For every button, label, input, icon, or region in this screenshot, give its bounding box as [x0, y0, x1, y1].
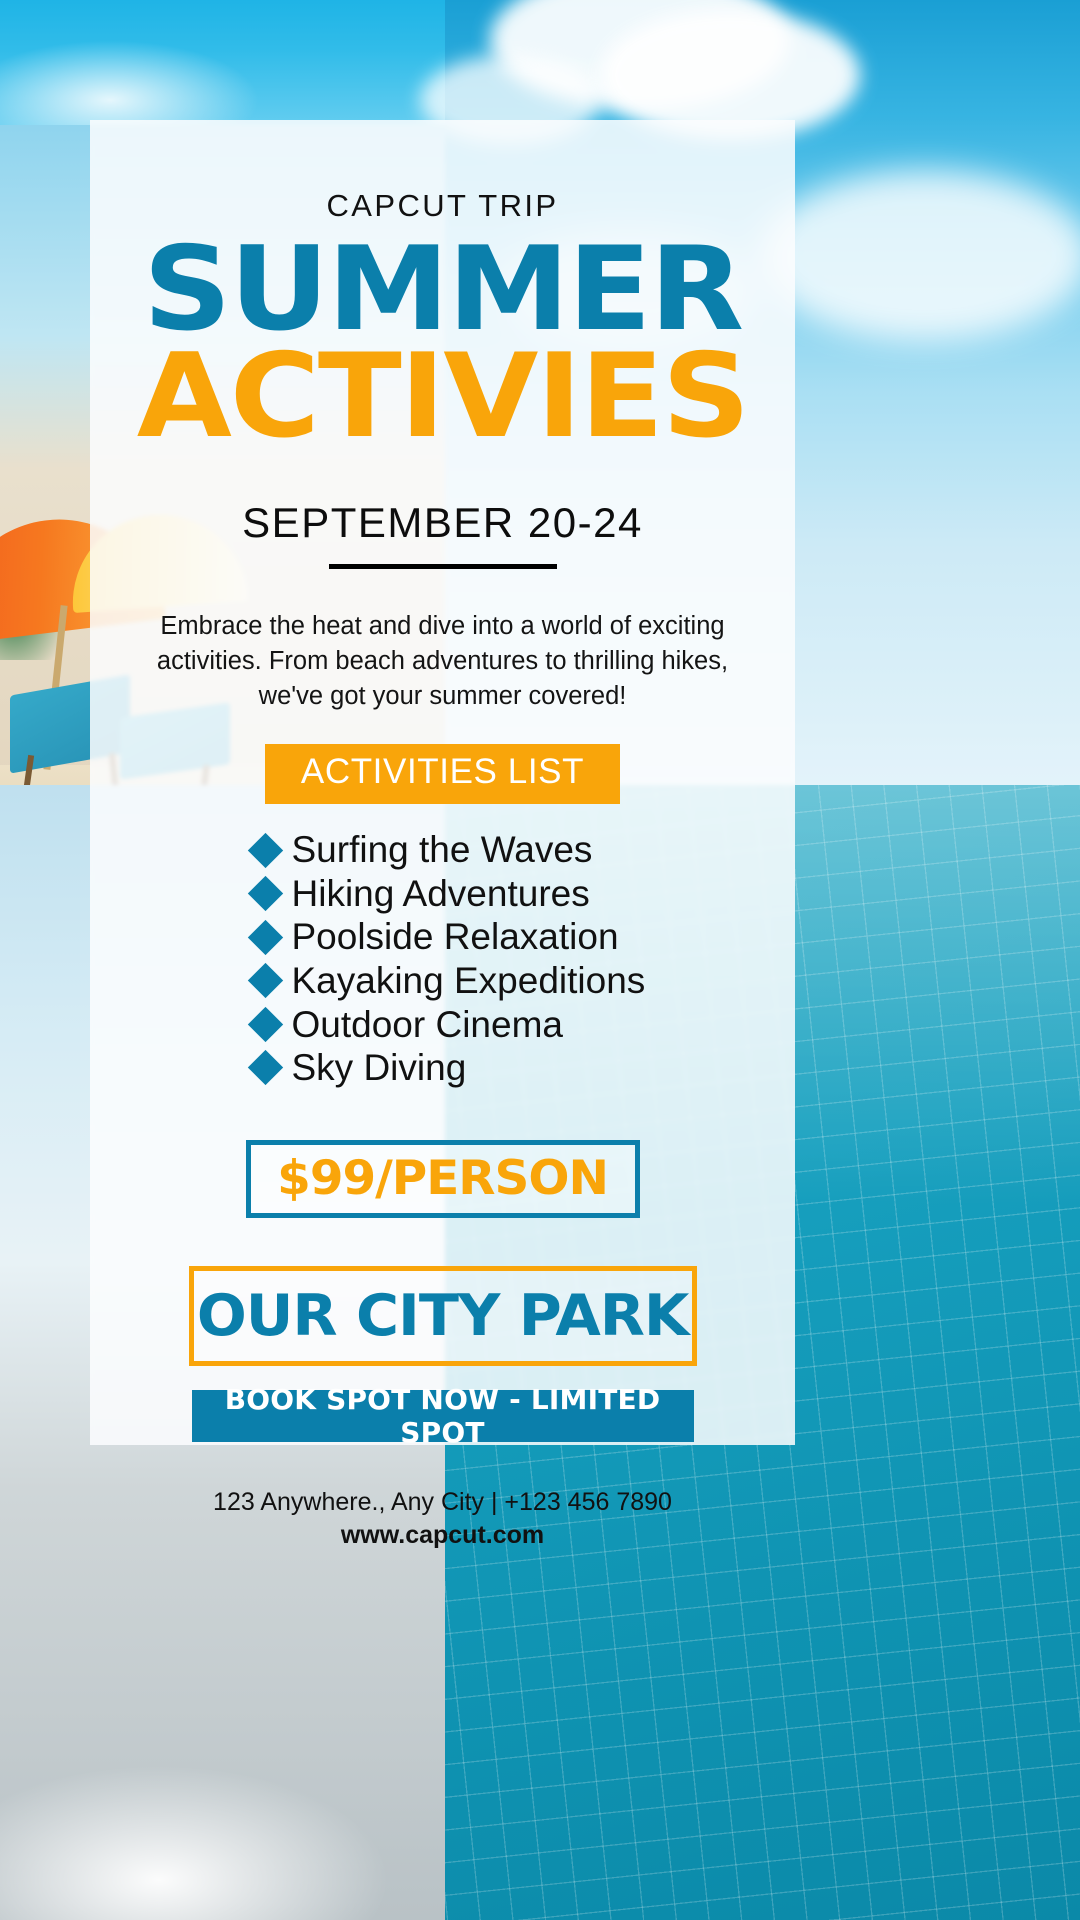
activities-list: Surfing the Waves Hiking Adventures Pool… — [233, 830, 653, 1087]
list-item: Kayaking Expeditions — [253, 961, 653, 1001]
list-item-label: Sky Diving — [292, 1048, 467, 1088]
list-item-label: Outdoor Cinema — [292, 1005, 563, 1045]
list-item-label: Surfing the Waves — [292, 830, 593, 870]
list-item: Sky Diving — [253, 1048, 653, 1088]
diamond-bullet-icon — [247, 876, 282, 911]
book-spot-label: BOOK SPOT NOW - LIMITED SPOT — [192, 1383, 694, 1449]
date-block: SEPTEMBER 20-24 — [114, 499, 771, 569]
list-item-label: Kayaking Expeditions — [292, 961, 646, 1001]
event-date: SEPTEMBER 20-24 — [114, 499, 771, 547]
poster-title-line2: ACTIVIES — [94, 341, 790, 452]
diamond-bullet-icon — [247, 963, 282, 998]
cloud-shape — [760, 170, 1080, 340]
price-label: $99/PERSON — [277, 1151, 608, 1206]
contact-info: 123 Anywhere., Any City | +123 456 7890 — [114, 1484, 771, 1522]
list-item-label: Poolside Relaxation — [292, 917, 619, 957]
date-divider-rule — [329, 564, 557, 569]
description-paragraph: Embrace the heat and dive into a world o… — [157, 609, 729, 715]
cloud-shape — [0, 1765, 390, 1920]
venue-label: OUR CITY PARK — [197, 1283, 689, 1349]
list-item: Hiking Adventures — [253, 874, 653, 914]
venue-box: OUR CITY PARK — [189, 1266, 697, 1366]
diamond-bullet-icon — [247, 1007, 282, 1042]
list-item: Surfing the Waves — [253, 830, 653, 870]
diamond-bullet-icon — [247, 920, 282, 955]
activities-list-banner: ACTIVITIES LIST — [265, 744, 620, 804]
poster-content-card: CAPCUT TRIP SUMMER ACTIVIES SEPTEMBER 20… — [90, 120, 795, 1445]
price-box: $99/PERSON — [246, 1140, 640, 1218]
sky-photo-top-left — [0, 0, 445, 125]
list-item: Poolside Relaxation — [253, 917, 653, 957]
website-label: www.capcut.com — [114, 1521, 771, 1550]
book-spot-button[interactable]: BOOK SPOT NOW - LIMITED SPOT — [192, 1390, 694, 1442]
diamond-bullet-icon — [247, 832, 282, 867]
list-item: Outdoor Cinema — [253, 1005, 653, 1045]
list-item-label: Hiking Adventures — [292, 874, 590, 914]
eyebrow-label: CAPCUT TRIP — [114, 188, 771, 224]
diamond-bullet-icon — [247, 1050, 282, 1085]
